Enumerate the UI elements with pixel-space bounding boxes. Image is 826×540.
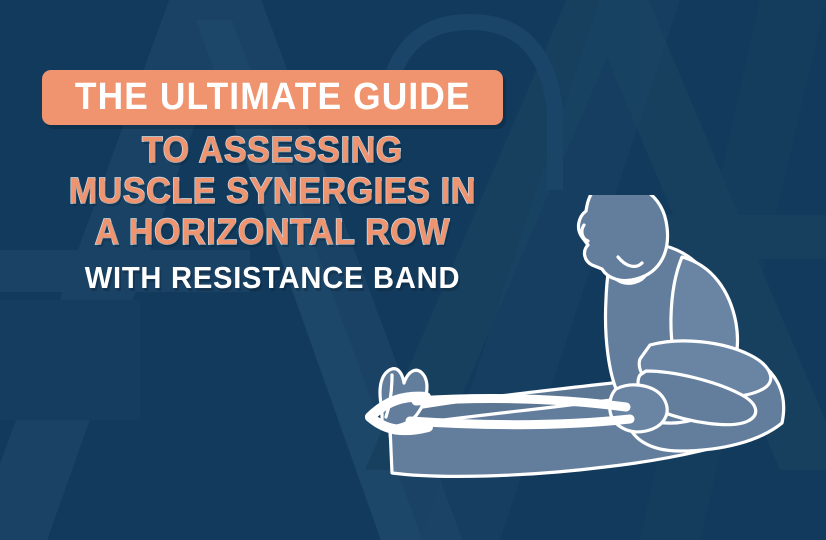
watermark-block [0,300,140,420]
resistance-band [410,399,630,425]
headline-line-3: A HORIZONTAL ROW [16,213,528,252]
figure-ear [582,225,588,241]
figure-torso [606,243,735,423]
headline-line-2: MUSCLE SYNERGIES IN [16,172,528,211]
ribbon-wrap: THE ULTIMATE GUIDE [0,70,545,125]
headline-line-4: WITH RESISTANCE BAND [16,261,528,295]
title-ribbon: THE ULTIMATE GUIDE [42,70,504,125]
poster-canvas: THE ULTIMATE GUIDE TO ASSESSING MUSCLE S… [0,0,826,540]
headline-line-1: TO ASSESSING [16,131,528,170]
figure-shoulder [671,257,738,387]
band-upper-strand [416,399,626,407]
figure-forearm [638,371,756,425]
figure-foot [380,369,427,427]
figure-hand-grip [614,389,658,425]
resistance-band-foot-loop [370,397,428,431]
band-lower-strand [410,419,630,425]
ribbon-label: THE ULTIMATE GUIDE [75,79,471,115]
figure-foot-crease [386,375,392,417]
figure-neck [608,238,649,283]
figure-hip [626,341,784,451]
figure-head [579,195,668,281]
figure-far-leg [388,363,750,455]
figure-upper-arm [639,341,771,398]
figure-face-chin [618,257,642,266]
headline-block: THE ULTIMATE GUIDE TO ASSESSING MUSCLE S… [0,70,545,295]
figure-near-leg [390,371,775,476]
figure-hand [610,385,667,432]
